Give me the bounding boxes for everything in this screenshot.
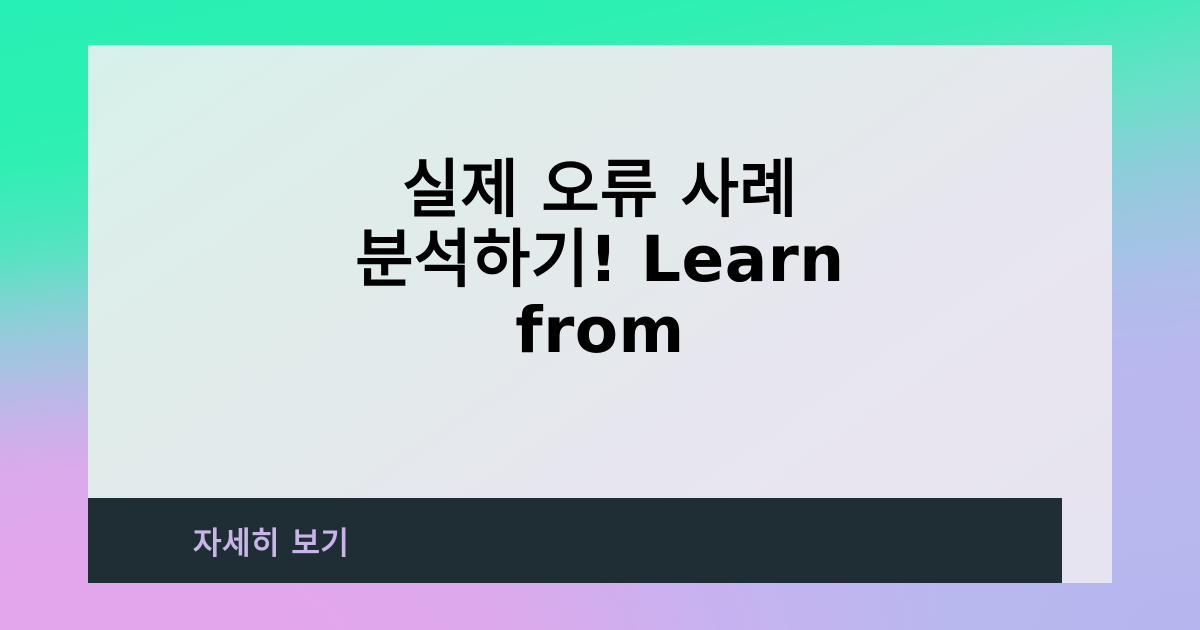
page-title: 실제 오류 사례 분석하기! Learn from <box>158 155 1042 367</box>
content-card: 실제 오류 사례 분석하기! Learn from 자세히 보기 <box>88 45 1112 583</box>
title-area: 실제 오류 사례 분석하기! Learn from <box>88 45 1112 498</box>
og-image-canvas: 실제 오류 사례 분석하기! Learn from 자세히 보기 <box>0 0 1200 630</box>
read-more-link[interactable]: 자세히 보기 <box>193 518 349 563</box>
footer-bar: 자세히 보기 <box>88 498 1062 583</box>
